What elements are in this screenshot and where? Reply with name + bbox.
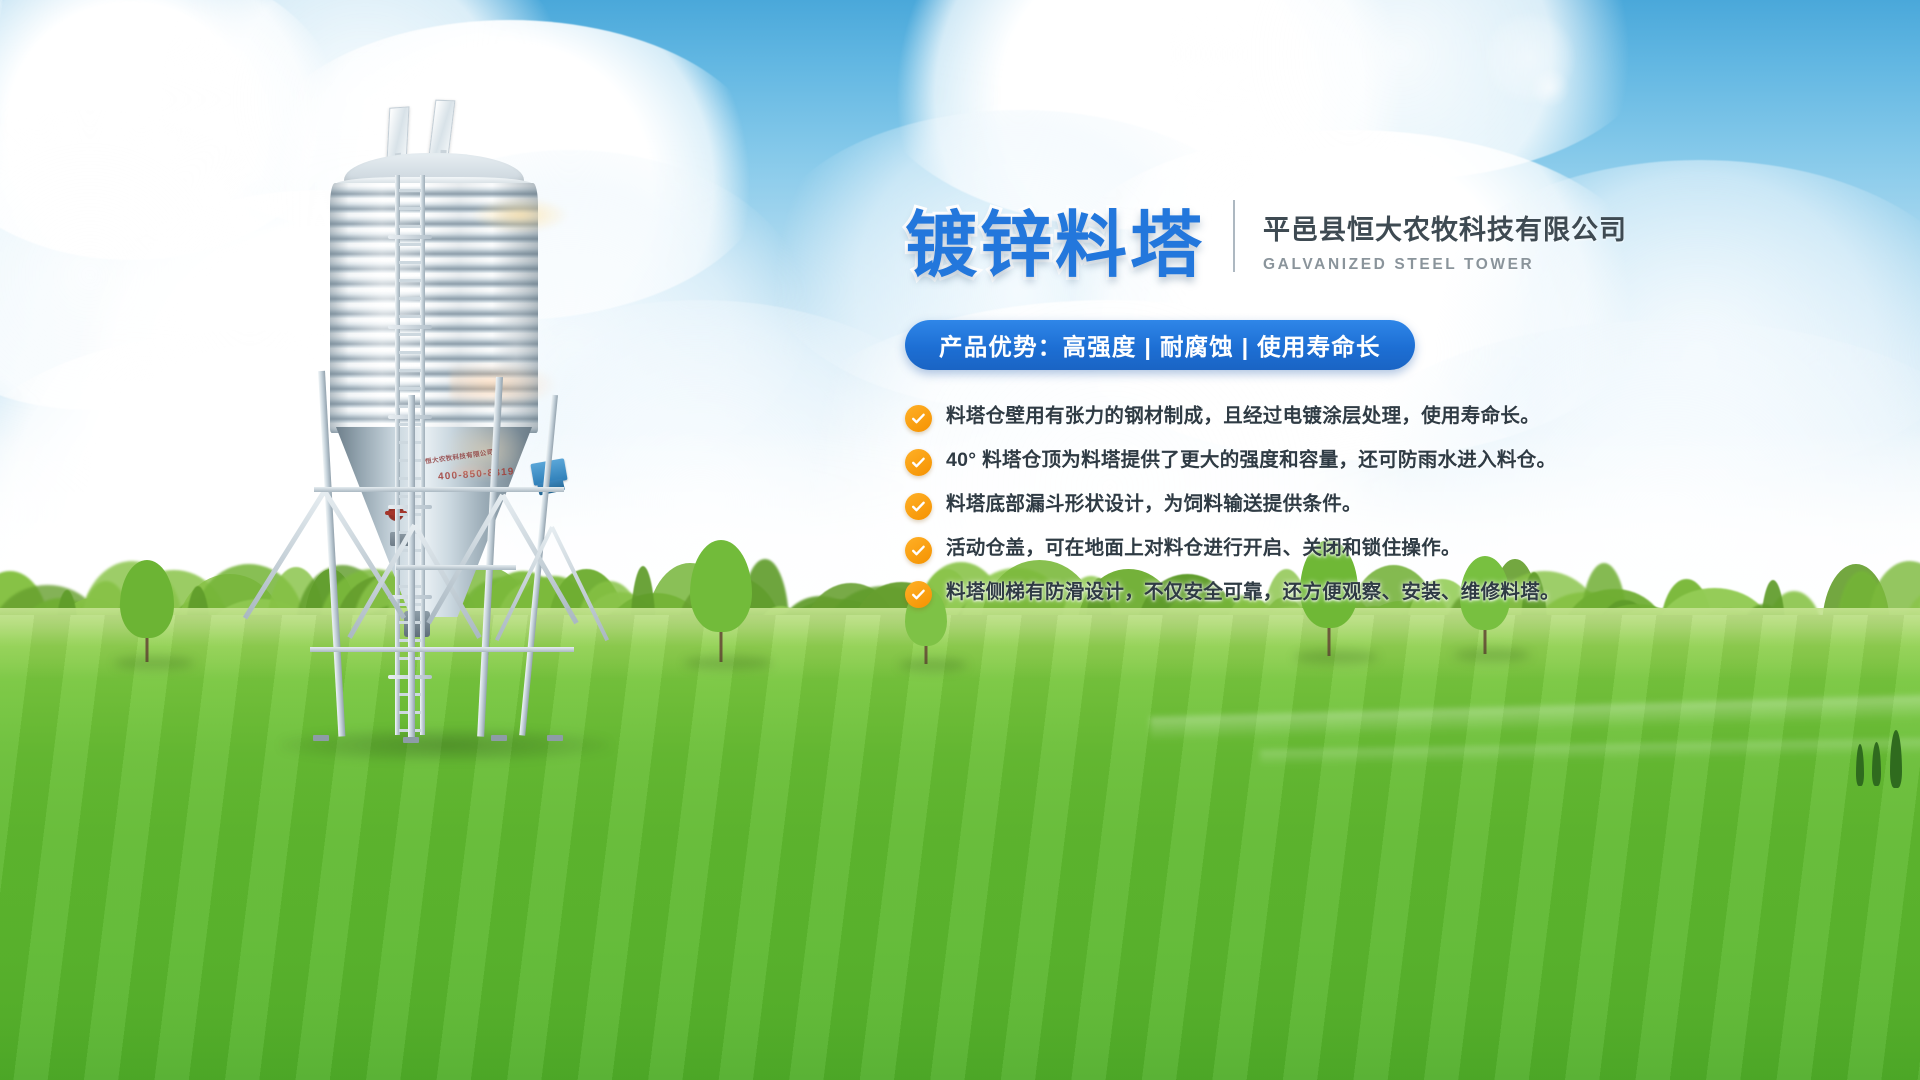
silo-leg-foot	[547, 735, 563, 741]
title-divider	[1233, 200, 1235, 272]
tree-shadow	[114, 656, 194, 670]
silo-leg-foot	[491, 735, 507, 741]
lens-flare	[495, 30, 521, 56]
feature-list-item: 料塔仓壁用有张力的钢材制成，且经过电镀涂层处理，使用寿命长。	[905, 404, 1745, 432]
feature-list-item: 活动仓盖，可在地面上对料仓进行开启、关闭和锁住操作。	[905, 536, 1745, 564]
galvanized-feed-silo: 恒大农牧科技有限公司 400-850-8819	[300, 95, 610, 745]
feature-list-item: 料塔侧梯有防滑设计，不仅安全可靠，还方便观察、安装、维修料塔。	[905, 580, 1745, 608]
feature-text: 活动仓盖，可在地面上对料仓进行开启、关闭和锁住操作。	[946, 536, 1461, 560]
feature-text: 40° 料塔仓顶为料塔提供了更大的强度和容量，还可防雨水进入料仓。	[946, 448, 1556, 472]
tree-shadow	[1454, 648, 1530, 662]
lens-flare	[1530, 68, 1570, 108]
ladder-cage-hoop	[388, 325, 432, 329]
tree-shadow	[684, 656, 772, 670]
grass-light-patches	[0, 615, 1920, 1080]
lawn-tree	[690, 540, 752, 662]
silo-leg-foot	[313, 735, 329, 741]
tree-crown	[690, 540, 752, 632]
check-circle-icon	[905, 537, 932, 564]
tree-shadow	[899, 658, 967, 672]
banner-text-panel: 镀锌料塔 平邑县恒大农牧科技有限公司 GALVANIZED STEEL TOWE…	[905, 200, 1745, 624]
check-circle-icon	[905, 405, 932, 432]
company-name: 平邑县恒大农牧科技有限公司	[1263, 208, 1627, 247]
silo-leg-foot	[403, 737, 419, 743]
tree-shadow	[1294, 650, 1378, 664]
feature-list-item: 料塔底部漏斗形状设计，为饲料输送提供条件。	[905, 492, 1745, 520]
check-circle-icon	[905, 449, 932, 476]
silo-ring-beam	[310, 647, 574, 652]
ladder-cage-hoop	[388, 235, 432, 239]
feature-list-item: 40° 料塔仓顶为料塔提供了更大的强度和容量，还可防雨水进入料仓。	[905, 448, 1745, 476]
feature-list: 料塔仓壁用有张力的钢材制成，且经过电镀涂层处理，使用寿命长。40° 料塔仓顶为料…	[905, 404, 1745, 608]
banner-canvas: 恒大农牧科技有限公司 400-850-8819 镀锌料塔 平邑县恒大农牧科技有限…	[0, 0, 1920, 1080]
check-circle-icon	[905, 581, 932, 608]
lawn-tree	[120, 560, 174, 662]
tree-crown	[120, 560, 174, 638]
advantage-badge: 产品优势：高强度 | 耐腐蚀 | 使用寿命长	[905, 320, 1415, 370]
silo-ring-beam	[396, 565, 516, 570]
silo-ring-beam	[314, 487, 564, 492]
subtitle-english: GALVANIZED STEEL TOWER	[1263, 256, 1627, 274]
title-row: 镀锌料塔 平邑县恒大农牧科技有限公司 GALVANIZED STEEL TOWE…	[905, 200, 1745, 282]
check-circle-icon	[905, 493, 932, 520]
feature-text: 料塔底部漏斗形状设计，为饲料输送提供条件。	[946, 492, 1362, 516]
feature-text: 料塔侧梯有防滑设计，不仅安全可靠，还方便观察、安装、维修料塔。	[946, 580, 1560, 604]
feature-text: 料塔仓壁用有张力的钢材制成，且经过电镀涂层处理，使用寿命长。	[946, 404, 1540, 428]
page-title: 镀锌料塔	[905, 210, 1205, 282]
company-block: 平邑县恒大农牧科技有限公司 GALVANIZED STEEL TOWER	[1263, 208, 1627, 282]
